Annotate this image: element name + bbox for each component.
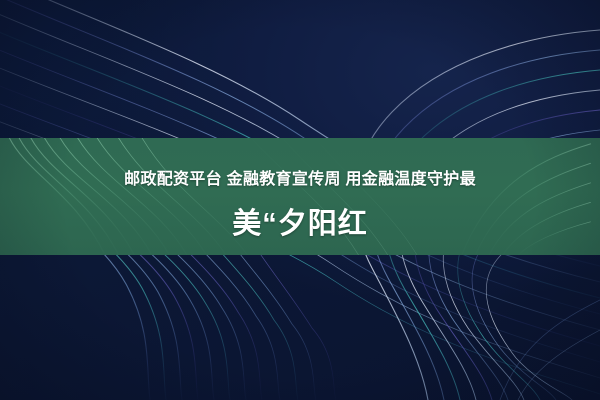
- headline-block: 邮政配资平台 金融教育宣传周 用金融温度守护最 美“夕阳红: [0, 158, 600, 246]
- headline-line-2: 美“夕阳红: [0, 202, 600, 246]
- banner: 邮政配资平台 金融教育宣传周 用金融温度守护最 美“夕阳红: [0, 0, 600, 400]
- headline-line-1: 邮政配资平台 金融教育宣传周 用金融温度守护最: [0, 158, 600, 202]
